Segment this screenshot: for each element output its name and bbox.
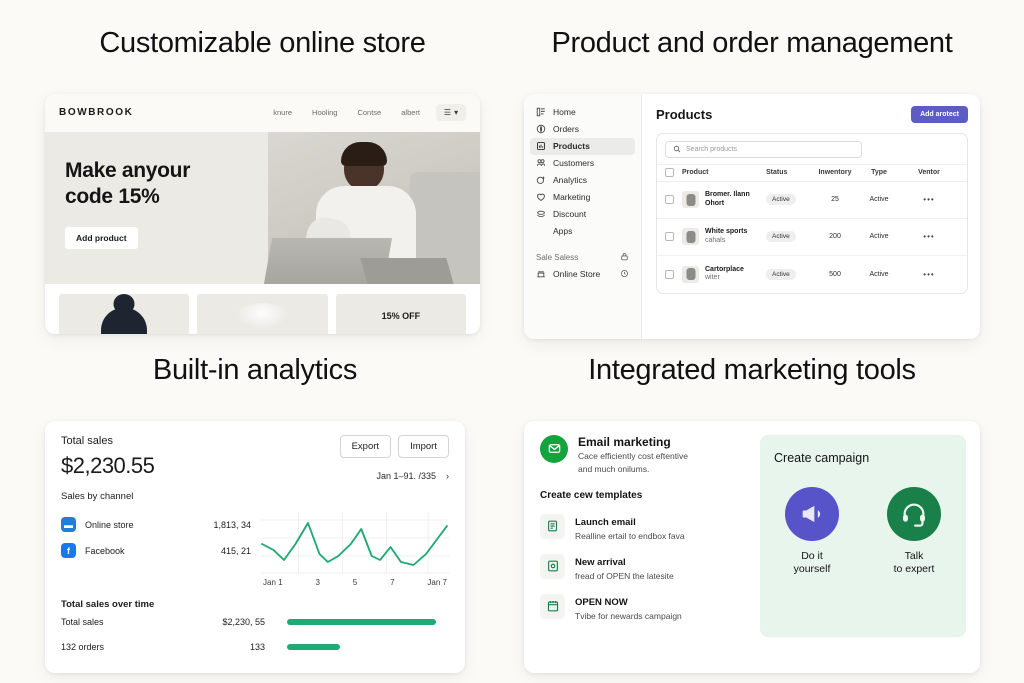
channel-value: 1,813, 34	[213, 520, 251, 530]
hero-heading-line-2: code 15%	[65, 185, 159, 208]
template-item-new-arrival[interactable]: New arrival fread of OPEN the latesite	[540, 552, 746, 581]
column-header-inventory[interactable]: Inwentory	[811, 169, 859, 176]
template-item-launch-email[interactable]: Launch email Realline ertail to endbox f…	[540, 512, 746, 541]
store-nav-links: knure Hooling Contse albert	[273, 108, 420, 117]
template-title: OPEN NOW	[575, 597, 628, 608]
hero-heading: Make anyour code 15%	[65, 158, 190, 209]
sidebar-item-analytics[interactable]: Analytics	[530, 172, 635, 189]
product-thumbnail	[682, 228, 699, 245]
product-name: Cartorplace	[705, 266, 744, 273]
marketing-left-panel: Email marketing Cace efficiently cost ef…	[540, 435, 746, 673]
template-text: OPEN NOW Tvibe for newards campaign	[575, 592, 682, 621]
product-tile-3[interactable]: 15% OFF	[336, 294, 466, 334]
template-title: Launch email	[575, 517, 636, 528]
status-cell: Active	[766, 231, 811, 242]
marketing-icon	[536, 192, 546, 202]
sidebar-label-marketing: Marketing	[553, 192, 590, 202]
section-built-in-analytics: Built-in analytics Total sales $2,230.55…	[45, 355, 465, 673]
total-sales-over-time-title: Total sales over time	[61, 599, 449, 610]
discount-icon	[536, 209, 546, 219]
email-marketing-header: Email marketing Cace efficiently cost ef…	[540, 435, 746, 476]
page-title-products: Products	[656, 107, 712, 122]
product-subtitle: cahals	[705, 237, 725, 244]
sidebar-item-apps[interactable]: Apps	[530, 223, 635, 240]
chevron-right-icon: ›	[446, 471, 449, 481]
inventory-cell: 200	[811, 233, 859, 240]
section-product-order-management: Product and order management Home Orders…	[524, 28, 980, 339]
storefront-icon	[536, 269, 546, 279]
products-table-header: Product Status Inwentory Type Ventor	[657, 164, 967, 182]
analytics-body: ▬ Online store 1,813, 34 f Facebook 415,…	[61, 512, 449, 587]
sidebar-item-online-store[interactable]: Online Store	[530, 266, 635, 283]
store-nav-link-2[interactable]: Hooling	[312, 108, 337, 117]
template-subtitle: Realline ertail to endbox fava	[575, 531, 685, 541]
sidebar-item-home[interactable]: Home	[530, 104, 635, 121]
admin-sidebar: Home Orders Products Customers Analytics	[524, 94, 642, 339]
channel-row-online-store[interactable]: ▬ Online store 1,813, 34	[61, 512, 251, 538]
analytics-card: Total sales $2,230.55 Sales by channel E…	[45, 421, 465, 673]
status-cell: Active	[766, 269, 811, 280]
marketing-card: Email marketing Cace efficiently cost ef…	[524, 421, 980, 673]
calendar-icon	[540, 594, 565, 619]
headset-icon	[887, 487, 941, 541]
sidebar-item-customers[interactable]: Customers	[530, 155, 635, 172]
x-tick-3: 5	[353, 578, 357, 587]
storefront-navbar: BOWBROOK knure Hooling Contse albert ☰ ▾	[45, 94, 480, 132]
storefront-hero: Make anyour code 15% Add product	[45, 132, 480, 284]
hero-heading-line-1: Make anyour	[65, 159, 190, 182]
page-root: Customizable online store BOWBROOK knure…	[0, 0, 1024, 683]
over-time-row: Total sales $2,230, 55	[61, 610, 449, 635]
email-marketing-desc-2: and much onilums.	[578, 464, 688, 475]
search-products-input[interactable]: Search products	[665, 141, 862, 158]
template-text: Launch email Realline ertail to endbox f…	[575, 512, 685, 541]
over-time-value: 133	[179, 642, 265, 652]
template-subtitle: fread of OPEN the latesite	[575, 571, 674, 581]
campaign-label-line-2: to expert	[894, 563, 935, 575]
campaign-label-line-1: Talk	[905, 550, 924, 562]
inventory-cell: 25	[811, 196, 859, 203]
sidebar-item-marketing[interactable]: Marketing	[530, 189, 635, 206]
tile-discount-label: 15% OFF	[382, 311, 421, 321]
analytics-actions: Export Import Jan 1–91. /335 ›	[340, 435, 449, 481]
product-name: Bromer. Ilann	[705, 191, 750, 198]
apps-icon	[536, 226, 546, 236]
template-subtitle: Tvibe for newards campaign	[575, 611, 682, 621]
sidebar-item-orders[interactable]: Orders	[530, 121, 635, 138]
admin-main-panel: Products Add arotect Search products	[642, 94, 980, 339]
envelope-icon	[540, 435, 568, 463]
table-row[interactable]: Cartorplace witer Active 500 Active •••	[657, 256, 967, 293]
hero-person-hair	[341, 142, 387, 166]
analytics-button-group: Export Import	[340, 435, 449, 458]
select-all-checkbox[interactable]	[665, 168, 674, 177]
x-tick-4: 7	[390, 578, 394, 587]
create-campaign-panel: Create campaign Do it yourself	[760, 435, 966, 637]
x-tick-5: Jan 7	[427, 578, 447, 587]
create-campaign-title: Create campaign	[774, 451, 952, 465]
channel-name: Online store	[76, 520, 134, 530]
email-marketing-desc-1: Cace efficiently cost eftentive	[578, 451, 688, 462]
campaign-option-talk-to-expert[interactable]: Talk to expert	[876, 487, 952, 576]
type-cell: Active	[859, 196, 899, 203]
status-badge: Active	[766, 194, 796, 205]
store-nav-link-4[interactable]: albert	[401, 108, 420, 117]
status-cell: Active	[766, 194, 811, 205]
campaign-options: Do it yourself Talk to expert	[774, 487, 952, 576]
over-time-row: 132 orders 133	[61, 635, 449, 660]
home-icon	[536, 107, 546, 117]
type-cell: Active	[859, 271, 899, 278]
store-nav-link-1[interactable]: knure	[273, 108, 292, 117]
email-marketing-title: Email marketing	[578, 435, 688, 449]
analytics-total-block: Total sales $2,230.55 Sales by channel	[61, 435, 154, 502]
storefront-product-tiles: 15% OFF	[45, 284, 480, 334]
chart-gridlines	[261, 512, 449, 574]
channel-name: Facebook	[76, 546, 125, 556]
x-tick-2: 3	[315, 578, 319, 587]
sidebar-label-apps: Apps	[553, 226, 572, 236]
chart-line	[262, 523, 447, 565]
product-tile-2[interactable]	[197, 294, 327, 334]
status-badge: Active	[766, 269, 796, 280]
channel-list: ▬ Online store 1,813, 34 f Facebook 415,…	[61, 512, 251, 587]
store-nav-link-3[interactable]: Contse	[357, 108, 381, 117]
over-time-value: $2,230, 55	[179, 617, 265, 627]
product-subtitle: witer	[705, 274, 720, 281]
analytics-icon	[536, 175, 546, 185]
storefront-card: BOWBROOK knure Hooling Contse albert ☰ ▾	[45, 94, 480, 334]
sidebar-label-discount: Discount	[553, 209, 586, 219]
inventory-cell: 500	[811, 271, 859, 278]
row-menu-icon[interactable]: •••	[899, 270, 959, 279]
create-templates-title: Create cew templates	[540, 490, 746, 501]
product-cell: White sports cahals	[674, 228, 766, 246]
products-icon	[536, 141, 546, 151]
tile-person-figure	[101, 308, 147, 334]
row-checkbox[interactable]	[665, 232, 674, 241]
customers-icon	[536, 158, 546, 168]
channel-row-facebook[interactable]: f Facebook 415, 21	[61, 538, 251, 564]
hero-copy: Make anyour code 15% Add product	[65, 158, 190, 249]
section-title-marketing: Integrated marketing tools	[524, 355, 980, 387]
hero-photo	[268, 132, 480, 284]
email-marketing-text: Email marketing Cace efficiently cost ef…	[578, 435, 688, 476]
date-range-selector[interactable]: Jan 1–91. /335 ›	[340, 471, 449, 481]
sidebar-label-orders: Orders	[553, 124, 579, 134]
over-time-bar-track	[265, 619, 449, 625]
type-cell: Active	[859, 233, 899, 240]
sales-by-channel-label: Sales by channel	[61, 491, 154, 502]
section-title-analytics: Built-in analytics	[45, 355, 465, 387]
admin-card: Home Orders Products Customers Analytics	[524, 94, 980, 339]
over-time-label: Total sales	[61, 617, 179, 627]
orders-icon	[536, 124, 546, 134]
table-row[interactable]: White sports cahals Active 200 Active ••…	[657, 219, 967, 256]
product-name-wrap: Bromer. Ilann Ohort	[705, 191, 766, 209]
add-product-button[interactable]: Add arotect	[911, 106, 968, 123]
row-menu-icon[interactable]: •••	[899, 232, 959, 241]
admin-header: Products Add arotect	[656, 106, 968, 123]
column-header-status[interactable]: Status	[766, 169, 811, 176]
sidebar-section-sales: Sale Saless	[536, 250, 629, 266]
template-title: New arrival	[575, 557, 626, 568]
document-edit-icon	[540, 514, 565, 539]
table-row[interactable]: Bromer. Ilann Ohort Active 25 Active •••	[657, 182, 967, 219]
sidebar-label-online-store: Online Store	[553, 269, 600, 279]
column-header-product[interactable]: Product	[674, 169, 766, 176]
column-header-vendor[interactable]: Ventor	[899, 169, 959, 176]
total-sales-label: Total sales	[61, 435, 154, 447]
template-item-open-now[interactable]: OPEN NOW Tvibe for newards campaign	[540, 592, 746, 621]
sales-line-chart: Jan 1 3 5 7 Jan 7	[251, 512, 449, 587]
analytics-header: Total sales $2,230.55 Sales by channel E…	[61, 435, 449, 502]
chart-x-axis: Jan 1 3 5 7 Jan 7	[261, 574, 449, 587]
import-button[interactable]: Import	[398, 435, 449, 458]
campaign-option-do-it-yourself[interactable]: Do it yourself	[774, 487, 850, 576]
status-badge: Active	[766, 231, 796, 242]
export-button[interactable]: Export	[340, 435, 391, 458]
sidebar-label-customers: Customers	[553, 158, 594, 168]
campaign-label-line-2: yourself	[794, 563, 831, 575]
hamburger-icon: ☰	[444, 108, 451, 117]
over-time-bar-track	[265, 644, 449, 650]
over-time-label: 132 orders	[61, 642, 179, 652]
product-thumbnail	[682, 266, 699, 283]
online-store-icon: ▬	[61, 517, 76, 532]
template-text: New arrival fread of OPEN the latesite	[575, 552, 674, 581]
search-icon	[673, 140, 681, 158]
over-time-bar-fill	[287, 644, 340, 650]
lock-icon[interactable]	[620, 252, 629, 263]
row-checkbox[interactable]	[665, 270, 674, 279]
section-integrated-marketing-tools: Integrated marketing tools Email marketi…	[524, 355, 980, 673]
campaign-option-label: Do it yourself	[774, 550, 850, 576]
image-frame-icon	[540, 554, 565, 579]
channel-value: 415, 21	[221, 546, 251, 556]
search-placeholder: Search products	[686, 146, 737, 153]
hero-laptop-screen	[360, 258, 453, 284]
product-name: White sports	[705, 228, 747, 235]
hero-add-product-button[interactable]: Add product	[65, 227, 138, 249]
hamburger-menu-button[interactable]: ☰ ▾	[436, 104, 466, 121]
sidebar-item-products[interactable]: Products	[530, 138, 635, 155]
row-menu-icon[interactable]: •••	[899, 195, 959, 204]
sidebar-section-label: Sale Saless	[536, 253, 578, 262]
sidebar-spacer	[524, 240, 641, 250]
sidebar-label-products: Products	[553, 141, 590, 151]
date-range-label: Jan 1–91. /335	[376, 471, 436, 481]
over-time-bar-fill	[287, 619, 436, 625]
total-sales-value: $2,230.55	[61, 453, 154, 479]
facebook-icon: f	[61, 543, 76, 558]
product-name-line2: Ohort	[705, 200, 724, 207]
campaign-option-label: Talk to expert	[876, 550, 952, 576]
megaphone-icon	[785, 487, 839, 541]
section-customizable-online-store: Customizable online store BOWBROOK knure…	[45, 28, 480, 334]
product-tile-1[interactable]	[59, 294, 189, 334]
product-cell: Bromer. Ilann Ohort	[674, 191, 766, 209]
sidebar-item-discount[interactable]: Discount	[530, 206, 635, 223]
product-thumbnail	[682, 191, 699, 208]
section-title-admin: Product and order management	[524, 28, 980, 60]
campaign-label-line-1: Do it	[801, 550, 823, 562]
chevron-down-icon: ▾	[454, 108, 458, 117]
row-checkbox[interactable]	[665, 195, 674, 204]
products-table-wrapper: Search products Product Status Inwentory…	[656, 133, 968, 294]
section-title-store: Customizable online store	[45, 28, 480, 60]
store-brand: BOWBROOK	[59, 107, 133, 118]
x-tick-1: Jan 1	[263, 578, 283, 587]
product-name-wrap: Cartorplace witer	[705, 266, 744, 284]
sidebar-label-home: Home	[553, 107, 576, 117]
eye-icon[interactable]	[620, 269, 629, 280]
product-cell: Cartorplace witer	[674, 266, 766, 284]
line-chart-svg	[261, 512, 449, 574]
sidebar-label-analytics: Analytics	[553, 175, 587, 185]
column-header-type[interactable]: Type	[859, 169, 899, 176]
search-row: Search products	[657, 134, 967, 164]
tile-product-shape	[236, 303, 288, 329]
product-name-wrap: White sports cahals	[705, 228, 747, 246]
